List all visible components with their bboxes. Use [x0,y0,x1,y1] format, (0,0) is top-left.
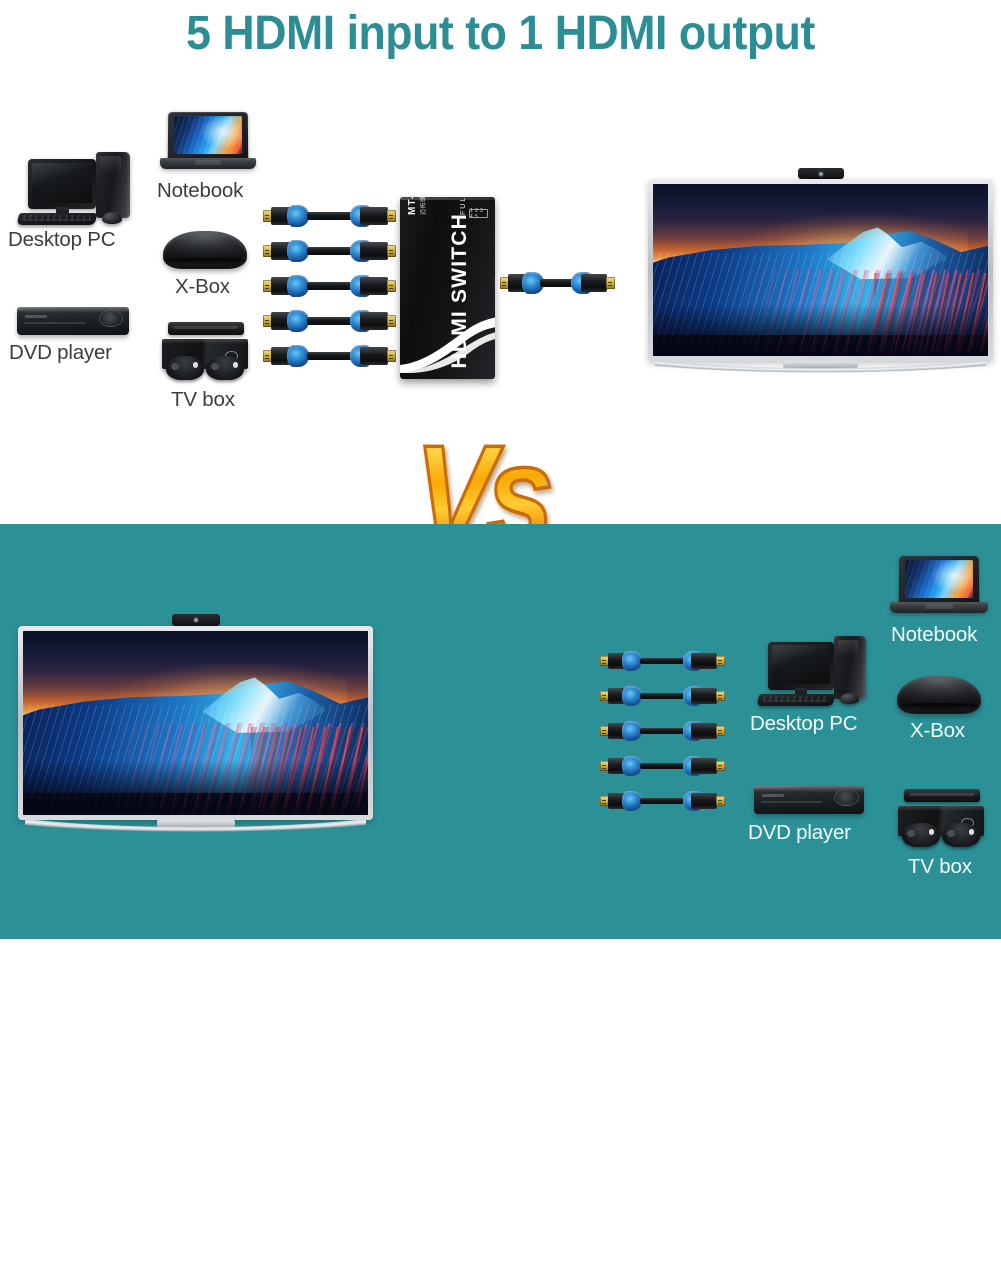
label-desktop-pc: Desktop PC [8,228,115,252]
hdmi-cable [263,240,396,262]
page-title: 5 HDMI input to 1 HDMI output [35,6,966,61]
label-notebook: Notebook [891,623,977,647]
hdmi-cable [600,686,725,706]
label-xbox: X-Box [175,275,230,299]
xbox-icon [897,676,981,714]
label-tv-box: TV box [908,855,972,879]
dvd-player-icon [754,786,864,814]
tv-screen-icon [18,614,373,854]
notebook-icon [160,112,258,174]
question-line-2: HDMI Port? [378,1243,603,1283]
desktop-pc-icon [10,150,150,225]
label-desktop-pc: Desktop PC [750,712,857,736]
switch-subtitle: FULL HD [460,197,467,215]
hdmi-cable [263,310,396,332]
hdmi-cable [263,345,396,367]
hdmi-cable [600,721,725,741]
hdmi-cable [600,651,725,671]
question-line-1: Only 1 [378,1202,603,1243]
xbox-icon [163,231,247,269]
switch-swoosh-decoration [400,315,495,373]
hdmi-cable [600,791,725,811]
switch-indicator: 1 2 3 4 5 [469,209,488,218]
dvd-player-icon [17,307,129,335]
hdmi-cable [263,205,396,227]
label-dvd-player: DVD player [9,341,112,365]
label-notebook: Notebook [157,179,243,203]
question-text: Only 1 HDMI Port? [378,1202,603,1283]
hdmi-switch-icon: MT-VIKI 迈拓维矩 HDMI SWITCH FULL HD 1 2 3 4… [400,197,495,379]
tv-screen-icon [648,168,993,394]
tv-box-icon [896,789,986,851]
hdmi-cable [600,756,725,776]
hdmi-output-cable [500,272,615,294]
switch-brand: MT-VIKI 迈拓维矩 [407,197,427,215]
hdmi-cable [263,275,396,297]
desktop-pc-icon [752,634,884,706]
label-dvd-player: DVD player [748,821,851,845]
tv-box-icon [160,322,250,384]
label-xbox: X-Box [910,719,965,743]
notebook-icon [890,556,990,618]
infographic-stage: 5 HDMI input to 1 HDMI output Desktop PC… [0,0,1001,939]
bottom-section: Only 1 HDMI Port? [0,524,1001,939]
label-tv-box: TV box [171,388,235,412]
